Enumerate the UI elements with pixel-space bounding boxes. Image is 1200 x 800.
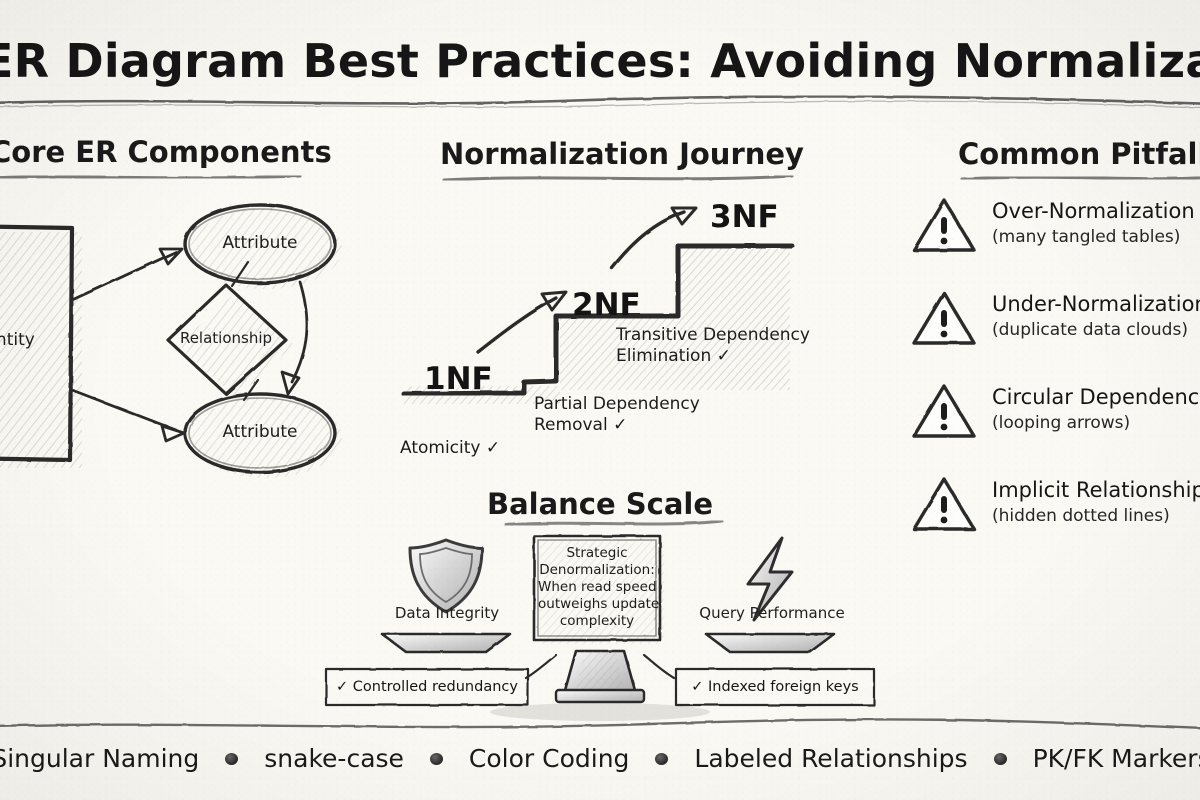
left-column-heading: Core ER Components (0, 136, 290, 168)
footer-best-practices: Singular Naming snake-case Color Coding … (0, 744, 1200, 773)
step-label-3nf: 3NF (710, 200, 779, 235)
denormalization-note: Strategic Denormalization: When read spe… (538, 545, 656, 630)
whiteboard-canvas: ER Diagram Best Practices: Avoiding Norm… (0, 0, 1200, 800)
pitfall-detail-0: (many tangled tables) (992, 228, 1180, 247)
balance-tag-right: ✓ Indexed foreign keys (680, 679, 870, 695)
footer-item-2: Color Coding (469, 744, 630, 773)
pitfall-title-3: Implicit Relationships (992, 479, 1200, 503)
er-node-attribute-bottom: Attribute (190, 423, 330, 442)
step-label-1nf: 1NF (424, 362, 493, 397)
balance-tag-left: ✓ Controlled redundancy (330, 679, 524, 695)
footer-item-0: Singular Naming (0, 744, 199, 773)
footer-item-1: snake-case (264, 744, 404, 773)
bullet-icon (430, 753, 443, 765)
right-column-heading: Common Pitfalls (958, 138, 1200, 170)
er-node-relationship: Relationship (166, 330, 286, 347)
pitfall-detail-1: (duplicate data clouds) (992, 321, 1188, 340)
footer-item-3: Labeled Relationships (694, 744, 967, 773)
pitfall-detail-3: (hidden dotted lines) (992, 507, 1170, 526)
step-caption-1nf: Atomicity ✓ (400, 438, 500, 459)
center-column-heading: Normalization Journey (440, 138, 800, 170)
step-caption-3nf: Transitive Dependency Elimination ✓ (616, 325, 810, 366)
footer-item-4: PK/FK Markers (1033, 744, 1200, 773)
balance-left-label: Data Integrity (376, 605, 518, 622)
balance-right-label: Query Performance (694, 605, 850, 622)
page-title: ER Diagram Best Practices: Avoiding Norm… (0, 36, 1200, 88)
bullet-icon (655, 753, 668, 765)
balance-scale-heading: Balance Scale (440, 488, 760, 520)
bullet-icon (994, 753, 1007, 765)
pitfall-detail-2: (looping arrows) (992, 414, 1130, 433)
pitfall-title-1: Under-Normalization (992, 293, 1200, 317)
step-label-2nf: 2NF (572, 288, 641, 323)
pitfall-title-0: Over-Normalization (992, 200, 1195, 224)
er-node-entity: Entity (0, 331, 70, 350)
pitfall-title-2: Circular Dependencies (992, 386, 1200, 410)
step-caption-2nf: Partial Dependency Removal ✓ (534, 394, 700, 435)
er-node-attribute-top: Attribute (190, 234, 330, 253)
bullet-icon (225, 753, 238, 765)
